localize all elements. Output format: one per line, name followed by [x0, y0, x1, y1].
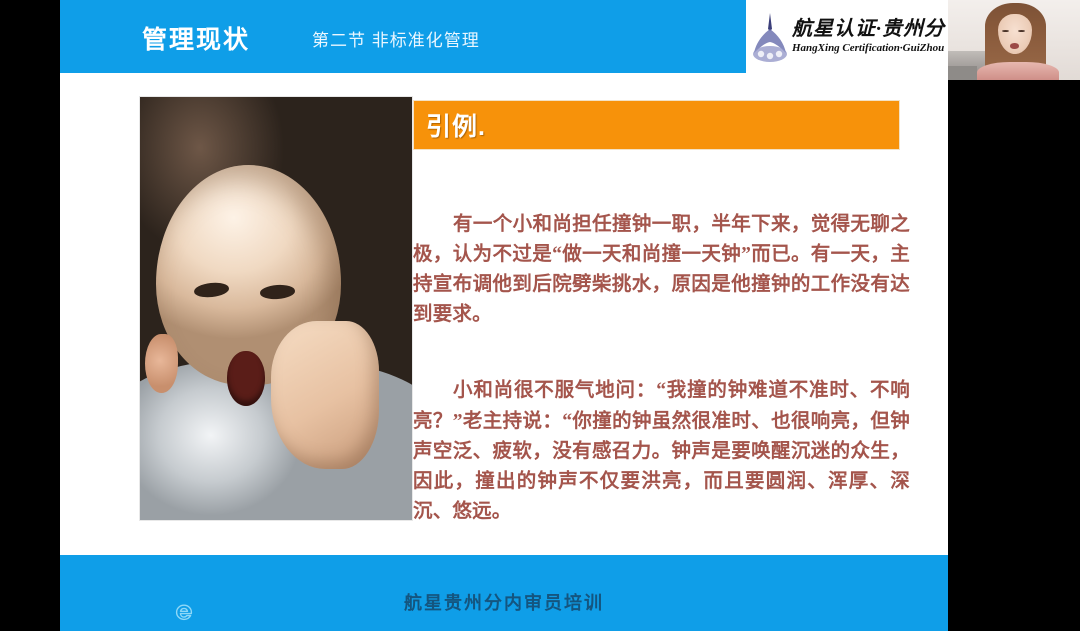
- presenter-mouth: [1010, 43, 1019, 49]
- presentation-slide[interactable]: 管理现状 第二节 非标准化管理 航星认证·贵州分 HangXing Certif…: [60, 0, 948, 631]
- illustration-photo: [140, 97, 412, 520]
- logo-text-block: 航星认证·贵州分 HangXing Certification·GuiZhou: [792, 19, 945, 54]
- webcam-desk: [948, 66, 977, 80]
- company-logo: 航星认证·贵州分 HangXing Certification·GuiZhou: [746, 0, 948, 73]
- photo-child-hand: [271, 321, 380, 469]
- slide-header-subtitle: 第二节 非标准化管理: [312, 26, 480, 51]
- slide-body-text: 有一个小和尚担任撞钟一职，半年下来，觉得无聊之极，认为不过是“做一天和尚撞一天钟…: [413, 190, 910, 547]
- slide-footer-band: 航星贵州分内审员培训: [60, 555, 948, 631]
- presenter-video-thumbnail[interactable]: [948, 0, 1080, 80]
- logo-english-text: HangXing Certification·GuiZhou: [792, 42, 945, 54]
- body-paragraph: 有一个小和尚担任撞钟一职，半年下来，觉得无聊之极，认为不过是“做一天和尚撞一天钟…: [413, 210, 910, 331]
- footer-title-text: 航星贵州分内审员培训: [60, 589, 948, 615]
- section-title-text: 引例.: [426, 107, 486, 143]
- hangxing-pagoda-logo-icon: [750, 11, 790, 63]
- logo-chinese-text: 航星认证·贵州分: [792, 19, 945, 40]
- section-title-bar: 引例.: [413, 100, 900, 150]
- photo-child-ear: [145, 334, 178, 393]
- photo-child-mouth: [227, 351, 265, 406]
- screen-share-viewport: 管理现状 第二节 非标准化管理 航星认证·贵州分 HangXing Certif…: [0, 0, 1080, 631]
- body-paragraph: 小和尚很不服气地问：“我撞的钟难道不准时、不响亮？”老主持说：“你撞的钟虽然很准…: [413, 376, 910, 527]
- presenter-torso: [977, 62, 1059, 80]
- slide-header-band: 管理现状 第二节 非标准化管理: [60, 0, 746, 73]
- slide-header-title: 管理现状: [142, 20, 250, 56]
